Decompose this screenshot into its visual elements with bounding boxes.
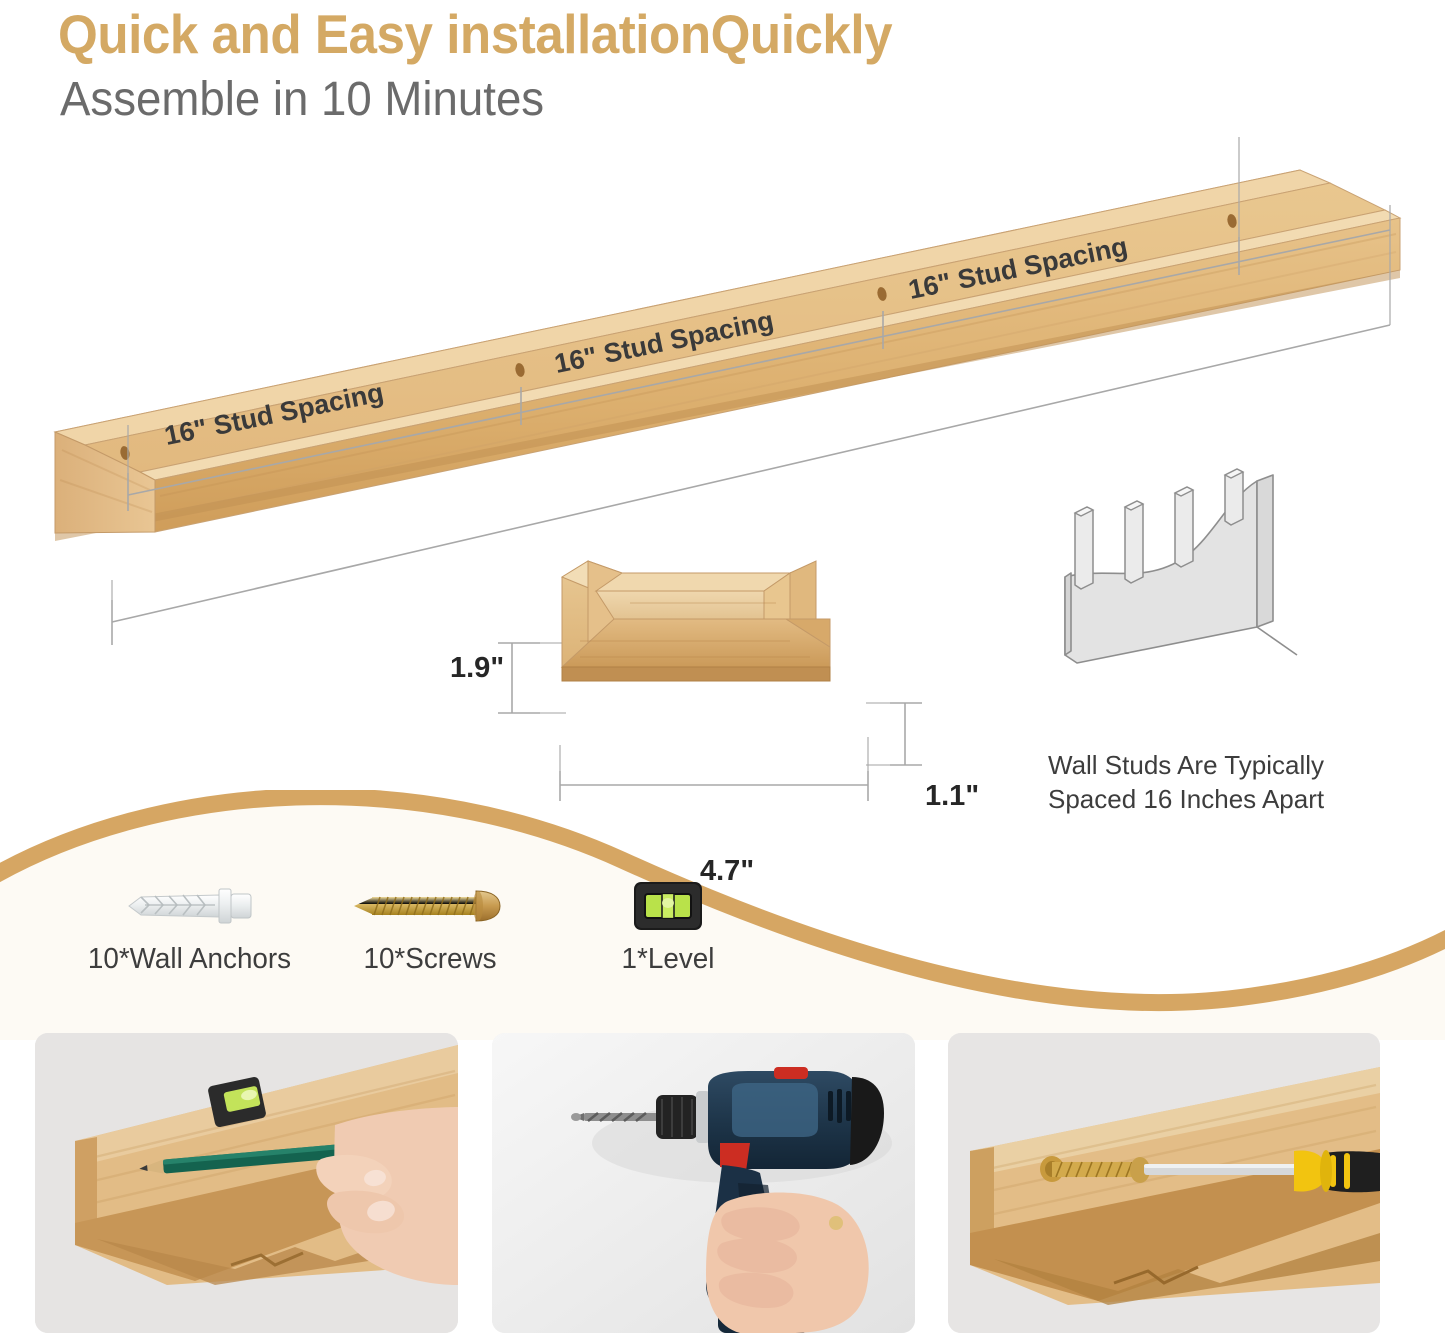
bubble-level-icon: [588, 875, 748, 937]
header: Quick and Easy installationQuickly Assem…: [0, 0, 1445, 140]
wall-studs-caption-line1: Wall Studs Are Typically: [1048, 749, 1378, 783]
photo-1-svg: [35, 1033, 458, 1333]
installation-photos: [0, 1033, 1445, 1333]
photo-drill-hole-in-wall: [492, 1033, 915, 1333]
cross-section-svg: [540, 515, 870, 705]
product-dimension-diagram: 16" Stud Spacing 16" Stud Spacing 16" St…: [0, 125, 1445, 815]
photo-3-svg: [948, 1033, 1380, 1333]
wall-studs-svg: [1035, 465, 1345, 765]
photo-2-svg: [492, 1033, 915, 1333]
wall-anchor-icon: [72, 875, 307, 937]
page-subtitle: Assemble in 10 Minutes: [60, 72, 544, 127]
page-title: Quick and Easy installationQuickly: [58, 2, 892, 66]
hardware-label-screws: 10*Screws: [334, 943, 526, 976]
hardware-item-wall-anchors: 10*Wall Anchors: [72, 875, 307, 976]
hardware-band: 10*Wall Anchors: [0, 790, 1445, 1040]
photo-drive-screw-with-screwdriver: [948, 1033, 1380, 1333]
screw-icon: [330, 875, 530, 937]
hardware-label-wall-anchors: 10*Wall Anchors: [77, 943, 303, 976]
cross-section-illustration: [540, 515, 870, 705]
hardware-label-level: 1*Level: [591, 943, 745, 976]
hardware-item-level: 1*Level: [588, 875, 748, 976]
wall-studs-illustration: [1035, 465, 1345, 765]
hardware-item-screws: 10*Screws: [330, 875, 530, 976]
photo-mark-with-pencil-and-level: [35, 1033, 458, 1333]
infographic-page: Quick and Easy installationQuickly Assem…: [0, 0, 1445, 1333]
cross-section-height-label: 1.9": [450, 652, 504, 685]
